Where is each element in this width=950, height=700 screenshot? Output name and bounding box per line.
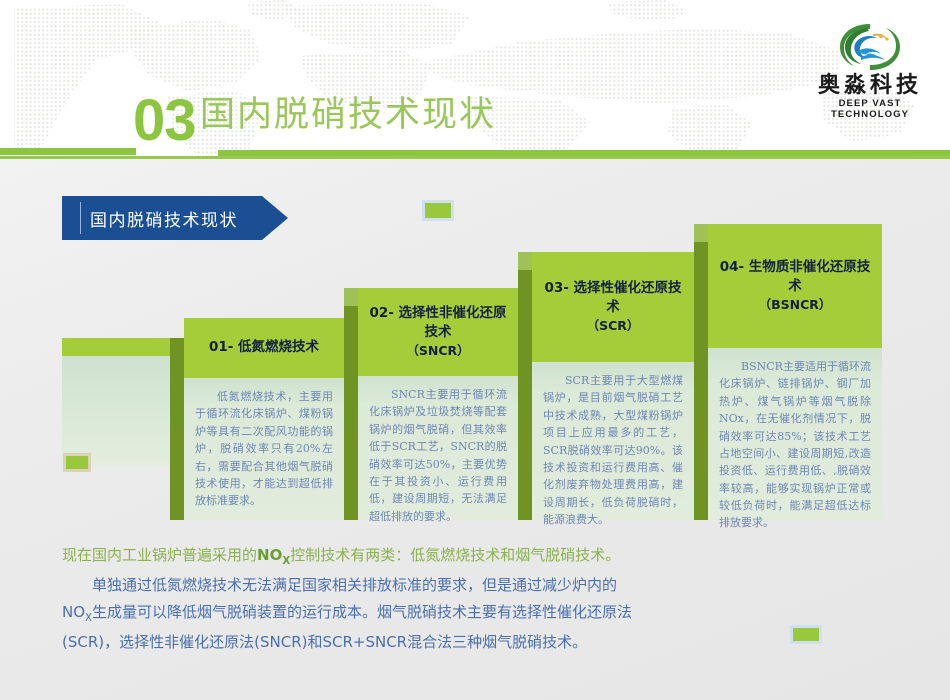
step-card-4-index: 04-: [720, 259, 744, 275]
step-card-3-body: SCR主要用于大型燃煤锅炉，是目前烟气脱硝工艺中技术成熟，大型煤粉锅炉项目上应用…: [532, 362, 694, 520]
step-card-1-text: 低氮燃烧技术，主要用于循环流化床锅炉、煤粉锅炉等具有二次配风功能的锅炉，脱硝效率…: [195, 388, 333, 510]
step-card-3-notch: [518, 252, 532, 270]
step-card-1[interactable]: 01- 低氮燃烧技术 低氮燃烧技术，主要用于循环流化床锅炉、煤粉锅炉等具有二次配…: [184, 318, 344, 520]
step-card-4-title: 04- 生物质非催化还原技术 （BSNCR）: [718, 258, 872, 314]
step-card-2-header: 02- 选择性非催化还原技术 （SNCR）: [358, 288, 518, 376]
step-card-4-name: 生物质非催化还原技术: [749, 259, 871, 294]
step-card-4-header: 04- 生物质非催化还原技术 （BSNCR）: [708, 224, 882, 348]
step-card-2-name: 选择性非催化还原技术: [399, 305, 507, 340]
step-card-1-header: 01- 低氮燃烧技术: [184, 318, 344, 378]
step-card-1-title: 01- 低氮燃烧技术: [209, 338, 319, 357]
summary-line-1-nox: NOX: [257, 546, 290, 564]
summary-line-1-b: 控制技术有两类：低氮燃烧技术和烟气脱硝技术。: [290, 546, 620, 564]
step-card-2-title: 02- 选择性非催化还原技术 （SNCR）: [368, 304, 508, 360]
step-card-1-body: 低氮燃烧技术，主要用于循环流化床锅炉、煤粉锅炉等具有二次配风功能的锅炉，脱硝效率…: [184, 378, 344, 520]
step-card-2-notch: [344, 288, 358, 306]
step-card-2-index: 02-: [369, 305, 393, 321]
step-card-3-title: 03- 选择性催化还原技术 （SCR）: [542, 279, 684, 335]
slide-root: 03 国内脱硝技术现状 奥淼科技 DEEP VAST TECHNOLOGY 国内…: [0, 0, 950, 700]
step-card-4-text: BSNCR主要适用于循环流化床锅炉、链排锅炉、钢厂加热炉、煤气锅炉等烟气脱除NO…: [719, 358, 871, 532]
step-card-1-index: 01-: [209, 339, 233, 355]
step-card-4[interactable]: 04- 生物质非催化还原技术 （BSNCR） BSNCR主要适用于循环流化床锅炉…: [708, 224, 882, 520]
step-card-1-side: [170, 338, 184, 520]
summary-paragraph: 现在国内工业锅炉普遍采用的NOX控制技术有两类：低氮燃烧技术和烟气脱硝技术。 单…: [62, 543, 822, 658]
step-card-3-text: SCR主要用于大型燃煤锅炉，是目前烟气脱硝工艺中技术成熟，大型煤粉锅炉项目上应用…: [543, 372, 683, 528]
step-card-2[interactable]: 02- 选择性非催化还原技术 （SNCR） SNCR主要用于循环流化床锅炉及垃圾…: [358, 288, 518, 520]
step-card-3-index: 03-: [544, 280, 568, 296]
step-card-1-name: 低氮燃烧技术: [238, 339, 319, 355]
step-card-3-name: 选择性催化还原技术: [574, 280, 682, 315]
step-card-3-side: [518, 270, 532, 520]
summary-line-4: (SCR)，选择性非催化还原法(SNCR)和SCR+SNCR混合法三种烟气脱硝技…: [62, 630, 822, 656]
step-card-4-side: [694, 242, 708, 520]
step-card-4-subtitle: （BSNCR）: [718, 296, 872, 314]
summary-line-1: 现在国内工业锅炉普遍采用的NOX控制技术有两类：低氮燃烧技术和烟气脱硝技术。: [62, 543, 822, 571]
step-card-2-side: [344, 306, 358, 520]
step-card-3-header: 03- 选择性催化还原技术 （SCR）: [532, 252, 694, 362]
accent-square-left: [66, 456, 88, 469]
step-card-2-subtitle: （SNCR）: [368, 342, 508, 360]
step-card-2-text: SNCR主要用于循环流化床锅炉及垃圾焚烧等配套锅炉的烟气脱硝，但其效率低于SCR…: [369, 386, 507, 525]
step-card-3[interactable]: 03- 选择性催化还原技术 （SCR） SCR主要用于大型燃煤锅炉，是目前烟气脱…: [532, 252, 694, 520]
accent-square-top: [425, 203, 451, 218]
step-card-4-notch: [694, 224, 708, 242]
step-card-3-subtitle: （SCR）: [542, 317, 684, 335]
summary-line-1-a: 现在国内工业锅炉普遍采用的: [62, 546, 257, 564]
summary-line-2: 单独通过低氮燃烧技术无法满足国家相关排放标准的要求，但是通过减少炉内的: [62, 573, 822, 599]
summary-line-3: NOX生成量可以降低烟气脱硝装置的运行成本。烟气脱硝技术主要有选择性催化还原法: [62, 600, 822, 628]
step-card-2-body: SNCR主要用于循环流化床锅炉及垃圾焚烧等配套锅炉的烟气脱硝，但其效率低于SCR…: [358, 376, 518, 520]
summary-line-3-nox: NOX: [62, 603, 92, 621]
step-card-4-body: BSNCR主要适用于循环流化床锅炉、链排锅炉、钢厂加热炉、煤气锅炉等烟气脱除NO…: [708, 348, 882, 520]
